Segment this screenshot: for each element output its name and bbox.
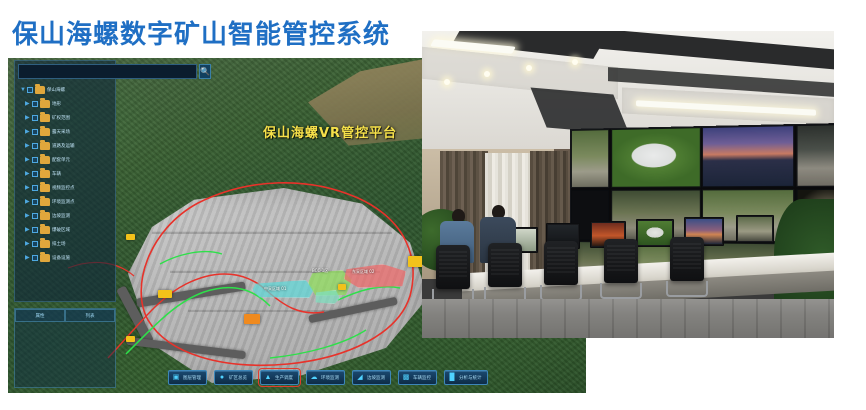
- toolbar-button-label: 分析与统计: [459, 375, 482, 381]
- vr-platform-banner: 保山海螺VR管控平台: [263, 122, 397, 141]
- checkbox[interactable]: [32, 143, 38, 149]
- tree-item-label: 边坡监测: [52, 213, 70, 219]
- tree-item-label: 环境监测点: [52, 199, 75, 205]
- chevron-right-icon[interactable]: ▶: [25, 157, 30, 164]
- tree-item[interactable]: ▶ 矿权范围: [18, 111, 112, 125]
- chevron-right-icon[interactable]: ▶: [25, 213, 30, 220]
- tree-item[interactable]: ▶ 配套单元: [18, 153, 112, 167]
- tree-item[interactable]: ▶ 设备设施: [18, 251, 112, 265]
- truck-icon: ▩: [402, 374, 410, 382]
- chevron-right-icon[interactable]: ▶: [25, 115, 30, 122]
- operator-chair[interactable]: [488, 243, 522, 287]
- map-toolbar[interactable]: ▣ 图层管理 ● 矿区总览 ▲ 生产调度 ☁ 环境监测 ◢ 边坡监测 ▩ 车辆监…: [168, 370, 488, 385]
- chevron-right-icon[interactable]: ▶: [25, 143, 30, 150]
- toolbar-button-analytics[interactable]: █ 分析与统计: [444, 370, 488, 385]
- checkbox[interactable]: [32, 227, 38, 233]
- operator-chair[interactable]: [436, 245, 470, 289]
- floor: [422, 299, 834, 338]
- equipment-truck[interactable]: [126, 234, 135, 240]
- tree-item-label: 视频监控点: [52, 185, 75, 191]
- tab-list[interactable]: 列表: [65, 309, 115, 322]
- equipment-excavator[interactable]: [158, 290, 172, 298]
- control-room-photo: [422, 31, 834, 338]
- operator-chair[interactable]: [670, 237, 704, 281]
- downlight: [444, 79, 450, 85]
- folder-icon: [40, 142, 50, 150]
- attribute-panel[interactable]: 属性 列表: [14, 308, 116, 388]
- checkbox[interactable]: [32, 115, 38, 121]
- checkbox[interactable]: [32, 185, 38, 191]
- slide-root: 保山海螺数字矿山智能管控系统 中采区域 01 BC: [0, 0, 866, 410]
- layers-icon: ▣: [172, 374, 180, 382]
- tree-item-label: 道路及运输: [52, 143, 75, 149]
- folder-icon: [40, 198, 50, 206]
- toolbar-button-vehicles[interactable]: ▩ 车辆监控: [398, 370, 437, 385]
- toolbar-button-environment[interactable]: ☁ 环境监测: [306, 370, 345, 385]
- chair-base: [600, 283, 642, 299]
- checkbox[interactable]: [27, 87, 33, 93]
- tree-item[interactable]: ▶ 视频监控点: [18, 181, 112, 195]
- search-input[interactable]: [18, 64, 197, 79]
- toolbar-button-label: 矿区总览: [229, 375, 247, 381]
- slope-icon: ◢: [356, 374, 364, 382]
- globe-icon: ●: [218, 374, 226, 382]
- downlight: [484, 71, 490, 77]
- tree-item-label: 矿权范围: [52, 115, 70, 121]
- tree-item[interactable]: ▶ 爆破区域: [18, 223, 112, 237]
- chart-icon: █: [448, 374, 456, 382]
- downlight: [572, 59, 578, 65]
- equipment-truck[interactable]: [126, 336, 135, 342]
- tree-item[interactable]: ▶ 露天采场: [18, 125, 112, 139]
- tree-item[interactable]: ▶ 地形: [18, 97, 112, 111]
- folder-icon: [40, 226, 50, 234]
- search-icon[interactable]: 🔍: [199, 64, 211, 79]
- toolbar-button-layers[interactable]: ▣ 图层管理: [168, 370, 207, 385]
- toolbar-button-slope[interactable]: ◢ 边坡监测: [352, 370, 391, 385]
- chevron-right-icon[interactable]: ▶: [25, 255, 30, 262]
- chevron-right-icon[interactable]: ▶: [25, 129, 30, 136]
- cloud-icon: ☁: [310, 374, 318, 382]
- chevron-right-icon[interactable]: ▶: [25, 227, 30, 234]
- tree-item-label: 配套单元: [52, 157, 70, 163]
- tree-item[interactable]: ▶ 道路及运输: [18, 139, 112, 153]
- tree-item[interactable]: ▼ 保山海螺: [18, 83, 112, 97]
- zone-label: 东采区域 02: [352, 269, 374, 275]
- checkbox[interactable]: [32, 129, 38, 135]
- toolbar-button-label: 图层管理: [183, 375, 201, 381]
- folder-icon: [40, 254, 50, 262]
- folder-icon: [40, 156, 50, 164]
- checkbox[interactable]: [32, 199, 38, 205]
- zone-label: 中采区域 01: [264, 286, 286, 292]
- video-wall-screen[interactable]: [611, 127, 701, 188]
- chevron-right-icon[interactable]: ▶: [25, 241, 30, 248]
- tree-item[interactable]: ▶ 环境监测点: [18, 195, 112, 209]
- search-row[interactable]: 🔍: [18, 64, 112, 79]
- folder-icon: [35, 86, 45, 94]
- folder-icon: [40, 240, 50, 248]
- zone-label: BCC-1区: [312, 268, 328, 274]
- folder-icon: [40, 212, 50, 220]
- chevron-right-icon[interactable]: ▶: [25, 185, 30, 192]
- checkbox[interactable]: [32, 101, 38, 107]
- checkbox[interactable]: [32, 241, 38, 247]
- operator-chair[interactable]: [604, 239, 638, 283]
- equipment-truck[interactable]: [338, 284, 346, 290]
- tree-item-label: 地形: [52, 101, 61, 107]
- tree-item[interactable]: ▶ 车辆: [18, 167, 112, 181]
- dispatch-icon: ▲: [264, 374, 272, 382]
- video-wall-screen[interactable]: [702, 125, 794, 187]
- video-wall-screen[interactable]: [571, 129, 609, 188]
- checkbox[interactable]: [32, 255, 38, 261]
- toolbar-button-label: 生产调度: [275, 375, 293, 381]
- folder-icon: [40, 184, 50, 192]
- chair-base: [666, 281, 708, 297]
- tab-attributes[interactable]: 属性: [15, 309, 65, 322]
- chevron-right-icon[interactable]: ▶: [25, 171, 30, 178]
- toolbar-button-dispatch[interactable]: ▲ 生产调度: [260, 370, 299, 385]
- checkbox[interactable]: [32, 157, 38, 163]
- tree-item-label: 排土场: [52, 241, 66, 247]
- tree-item-label: 爆破区域: [52, 227, 70, 233]
- toolbar-button-overview[interactable]: ● 矿区总览: [214, 370, 253, 385]
- checkbox[interactable]: [32, 213, 38, 219]
- toolbar-button-label: 环境监测: [321, 375, 339, 381]
- layer-tree-list[interactable]: ▼ 保山海螺 ▶ 地形 ▶ 矿权范围 ▶: [15, 83, 115, 265]
- tree-item-label: 露天采场: [52, 129, 70, 135]
- chevron-down-icon[interactable]: ▼: [20, 87, 25, 94]
- tree-item[interactable]: ▶ 排土场: [18, 237, 112, 251]
- tree-item-label: 保山海螺: [47, 87, 65, 93]
- equipment-building[interactable]: [244, 314, 260, 324]
- folder-icon: [40, 170, 50, 178]
- desk-monitor[interactable]: [636, 219, 674, 247]
- layer-tree-panel[interactable]: 🔍 ▼ 保山海螺 ▶ 地形 ▶: [14, 60, 116, 302]
- toolbar-button-label: 边坡监测: [367, 375, 385, 381]
- checkbox[interactable]: [32, 171, 38, 177]
- folder-icon: [40, 100, 50, 108]
- folder-icon: [40, 128, 50, 136]
- tree-item-label: 设备设施: [52, 255, 70, 261]
- attribute-panel-tabs[interactable]: 属性 列表: [15, 309, 115, 322]
- operator-chair[interactable]: [544, 241, 578, 285]
- toolbar-button-label: 车辆监控: [413, 375, 431, 381]
- chevron-right-icon[interactable]: ▶: [25, 199, 30, 206]
- video-wall-screen[interactable]: [796, 124, 834, 187]
- tree-item[interactable]: ▶ 边坡监测: [18, 209, 112, 223]
- folder-icon: [40, 114, 50, 122]
- page-title: 保山海螺数字矿山智能管控系统: [12, 14, 390, 51]
- downlight: [526, 65, 532, 71]
- tree-item-label: 车辆: [52, 171, 61, 177]
- desk-monitor[interactable]: [736, 215, 774, 243]
- chevron-right-icon[interactable]: ▶: [25, 101, 30, 108]
